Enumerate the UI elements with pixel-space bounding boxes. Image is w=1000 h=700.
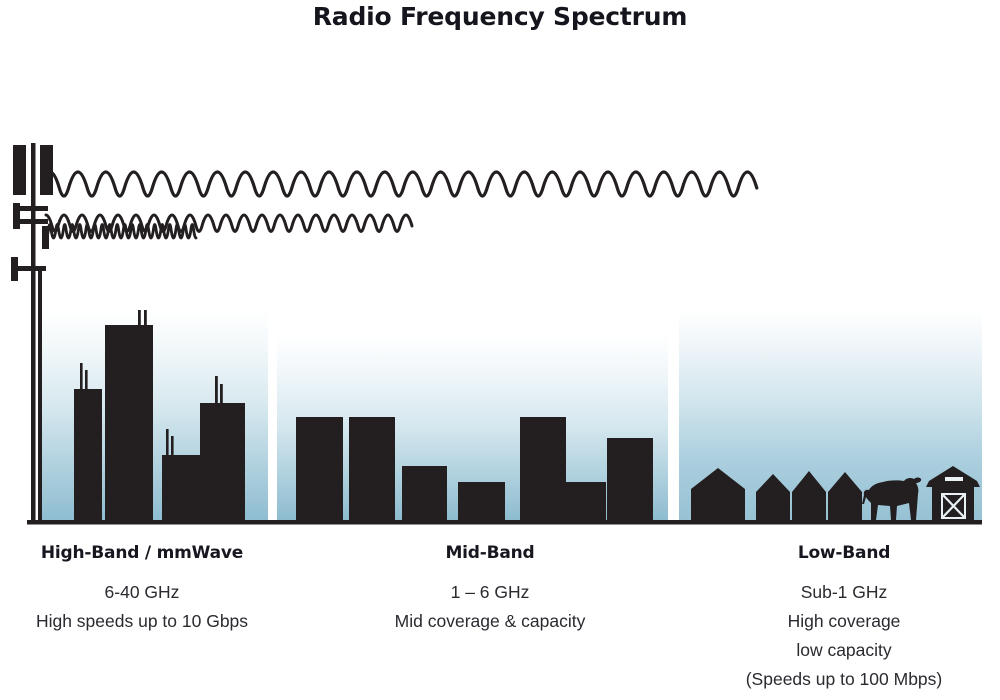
skyline-building	[105, 325, 153, 520]
tower-antenna-panel-right	[40, 145, 53, 195]
low-band-wave	[50, 172, 757, 196]
building-spire	[171, 436, 174, 456]
band-title-low-band: Low-Band	[706, 543, 982, 563]
band-note-low-band-0: High coverage	[706, 607, 982, 636]
infographic-root: Radio Frequency Spectrum	[0, 0, 1000, 700]
ground-baseline	[27, 520, 982, 525]
skyline-building	[200, 403, 245, 520]
skyline-building	[458, 482, 505, 520]
tower-crossbar-upper-2	[18, 219, 48, 224]
band-description-high-band: 6-40 GHz High speeds up to 10 Gbps	[8, 578, 276, 636]
tower-antenna-small-left	[13, 203, 20, 229]
tower-antenna-panel-left	[13, 145, 26, 195]
tower-mast-secondary	[38, 270, 42, 520]
tower-crossbar-lower	[16, 266, 46, 271]
building-spire	[144, 303, 147, 327]
skyline-building	[296, 417, 343, 520]
band-note-low-band-2: (Speeds up to 100 Mbps)	[706, 665, 982, 694]
tower-mast	[31, 143, 36, 520]
building-spire	[220, 384, 223, 406]
skyline-building	[349, 417, 395, 520]
barn-door	[940, 492, 967, 520]
skyline-building	[402, 466, 447, 520]
band-captions: High-Band / mmWave 6-40 GHz High speeds …	[0, 543, 1000, 700]
skyline-building	[74, 389, 102, 520]
building-spire	[215, 376, 218, 404]
skyline-building	[520, 417, 566, 520]
skyline-building	[566, 482, 606, 520]
tower-crossbar-upper	[18, 206, 48, 211]
tower-antenna-lower-left	[11, 257, 18, 281]
band-description-mid-band: 1 – 6 GHz Mid coverage & capacity	[352, 578, 628, 636]
band-note-low-band-1: low capacity	[706, 636, 982, 665]
high-band-wave	[46, 225, 196, 239]
band-frequency-low-band: Sub-1 GHz	[706, 578, 982, 607]
band-description-low-band: Sub-1 GHz High coverage low capacity (Sp…	[706, 578, 982, 694]
band-note-high-band-0: High speeds up to 10 Gbps	[8, 607, 276, 636]
band-title-mid-band: Mid-Band	[352, 543, 628, 563]
band-column-high-band: High-Band / mmWave 6-40 GHz High speeds …	[8, 543, 276, 636]
band-column-low-band: Low-Band Sub-1 GHz High coverage low cap…	[706, 543, 982, 694]
building-spire	[138, 296, 141, 326]
ground-line	[27, 520, 982, 525]
band-title-high-band: High-Band / mmWave	[8, 543, 276, 563]
skyline-building	[607, 438, 653, 520]
radio-waves	[46, 172, 757, 238]
band-column-mid-band: Mid-Band 1 – 6 GHz Mid coverage & capaci…	[352, 543, 628, 636]
band-frequency-mid-band: 1 – 6 GHz	[352, 578, 628, 607]
building-spire	[166, 429, 169, 455]
barn-window	[945, 477, 963, 481]
tower-antenna-small-right	[42, 226, 49, 249]
band-frequency-high-band: 6-40 GHz	[8, 578, 276, 607]
skyline-building	[162, 455, 200, 520]
band-note-mid-band-0: Mid coverage & capacity	[352, 607, 628, 636]
